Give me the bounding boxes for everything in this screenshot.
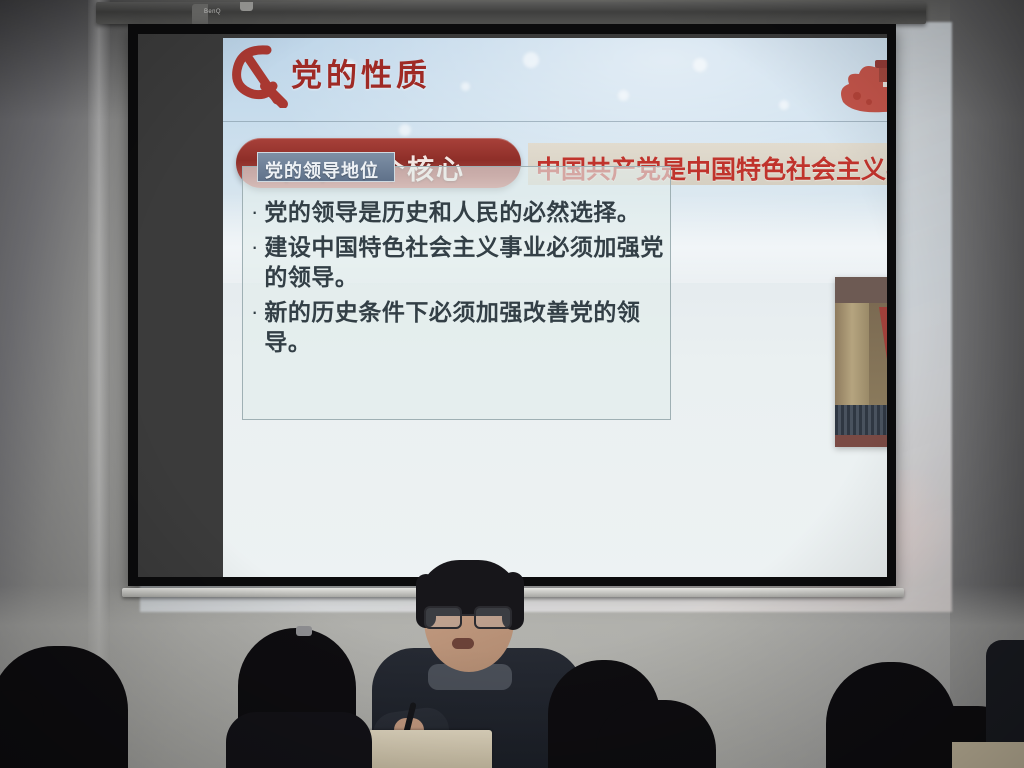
glasses-lens-left — [424, 606, 462, 629]
projection-screen-roller[interactable]: BenQ — [96, 2, 926, 24]
hair-clip-icon — [296, 626, 312, 636]
presenter-mouth — [452, 638, 474, 649]
photo-delegate-rows — [835, 405, 887, 439]
desk-edge — [952, 742, 1024, 768]
title-divider — [223, 121, 887, 122]
photo-red-flag — [879, 307, 887, 379]
screen-unlit-left-margin — [138, 34, 224, 577]
bokeh-dot — [399, 124, 411, 136]
photo-curtain-left — [835, 303, 869, 408]
bullet-list: · 党的领导是历史和人民的必然选择。 · 建设中国特色社会主义事业必须加强党的领… — [251, 198, 666, 363]
slide-title-row: 党的性质 — [223, 38, 887, 116]
presentation-slide: 党的性质 （二）一个核心 中国共产党是中国特色社会主义事业的领导核心 党的领导地… — [223, 38, 887, 577]
roller-endcap — [192, 4, 208, 26]
audience-fur-collar — [226, 712, 372, 768]
list-item-text: 党的领导是历史和人民的必然选择。 — [264, 198, 640, 227]
content-section-tab-label: 党的领导地位 — [265, 157, 379, 183]
glasses-bridge — [460, 614, 474, 616]
projection-screen: 党的性质 （二）一个核心 中国共产党是中国特色社会主义事业的领导核心 党的领导地… — [128, 24, 896, 586]
list-item: · 党的领导是历史和人民的必然选择。 — [251, 198, 666, 227]
party-congress-photo — [835, 277, 887, 447]
photo-podium — [835, 435, 887, 447]
presenter-glasses-icon — [424, 606, 516, 626]
audience-head — [0, 690, 44, 768]
slide-title: 党的性质 — [291, 50, 431, 95]
glasses-lens-right — [474, 606, 512, 629]
wall-corner-edge — [88, 0, 110, 660]
party-hammer-sickle-emblem-icon — [227, 42, 289, 108]
bullet-marker: · — [251, 298, 258, 326]
content-section-tab: 党的领导地位 — [257, 152, 395, 182]
roller-mount-knob — [240, 2, 253, 11]
bullet-marker: · — [251, 198, 258, 226]
photo-ceiling — [835, 277, 887, 303]
laptop — [368, 730, 492, 768]
list-item: · 建设中国特色社会主义事业必须加强党的领导。 — [251, 233, 666, 292]
bullet-marker: · — [251, 233, 258, 261]
list-item: · 新的历史条件下必须加强改善党的领导。 — [251, 298, 666, 357]
roller-brand-label: BenQ — [204, 9, 221, 15]
list-item-text: 新的历史条件下必须加强改善党的领导。 — [264, 298, 666, 357]
screen-surface: 党的性质 （二）一个核心 中国共产党是中国特色社会主义事业的领导核心 党的领导地… — [138, 34, 887, 577]
list-item-text: 建设中国特色社会主义事业必须加强党的领导。 — [264, 233, 666, 292]
classroom-scene: BenQ — [0, 0, 1024, 768]
